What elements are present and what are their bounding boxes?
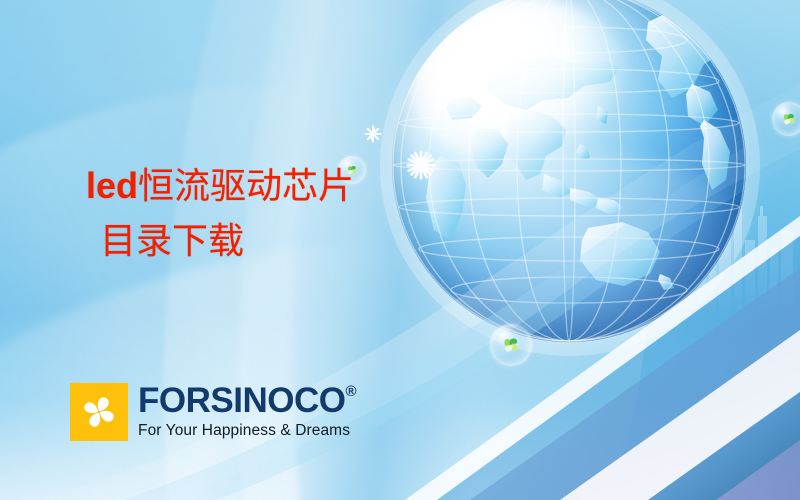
logo-text: FORSINOCO ® For Your Happiness & Dreams [138, 383, 356, 440]
four-petal-pinwheel-icon [77, 390, 121, 434]
pinwheel-icon [499, 333, 523, 357]
bubble-right-edge [772, 102, 800, 136]
headline-line-1-cjk: 恒流驱动芯片 [138, 166, 354, 207]
brand-logo: FORSINOCO ® For Your Happiness & Dreams [70, 383, 356, 441]
logo-wordmark: FORSINOCO ® [138, 383, 356, 418]
globe-highlight [413, 0, 632, 169]
ribbon-white-thick [560, 330, 800, 500]
logo-mark [70, 383, 128, 441]
logo-wordmark-label: FORSINOCO [138, 383, 345, 418]
headline-line-1-latin: led [86, 165, 138, 206]
headline-line-2: 目录下载 [100, 219, 446, 264]
registered-trademark-icon: ® [345, 384, 356, 399]
bubble-center [490, 324, 532, 366]
pinwheel-icon [780, 110, 799, 129]
sparkle-small-icon [364, 125, 382, 143]
headline-text: led恒流驱动芯片 目录下载 [86, 163, 446, 265]
logo-tagline: For Your Happiness & Dreams [138, 422, 356, 440]
headline-line-1: led恒流驱动芯片 [86, 163, 446, 209]
banner-image: led恒流驱动芯片 目录下载 FORSINOCO ® For Your Happ… [0, 0, 800, 500]
ribbon-teal [648, 392, 800, 500]
